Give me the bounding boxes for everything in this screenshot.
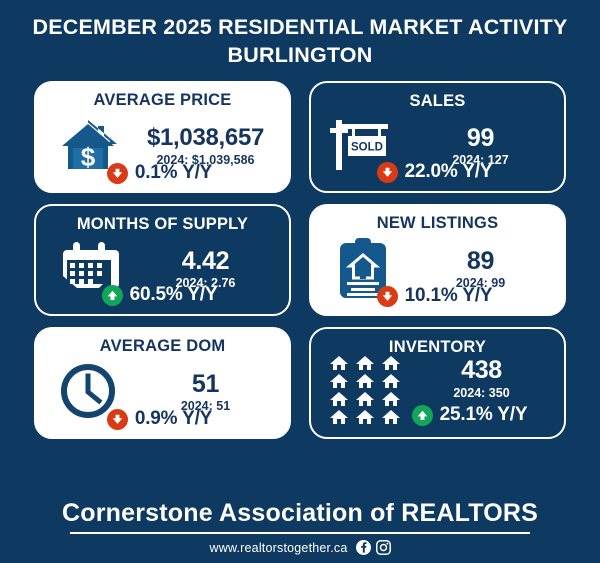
card-title: SALES [321,93,554,110]
card-body: SOLD 99 2024: 127 22.0% Y/Y [321,110,554,185]
card-change: 22.0% Y/Y [405,161,493,183]
card-change: 0.1% Y/Y [135,162,212,184]
infographic-page: DECEMBER 2025 RESIDENTIAL MARKET ACTIVIT… [0,0,600,563]
house-icon [355,409,375,430]
page-title-line2: BURLINGTON [20,42,580,70]
arrow-down-icon [107,409,128,430]
instagram-icon[interactable] [376,540,391,555]
sold-label: SOLD [351,142,383,154]
card-previous-value: 2024: 350 [453,386,509,400]
card-change: 25.1% Y/Y [440,404,528,426]
card-value: 438 [461,358,502,384]
brand-divider [70,532,530,534]
stats-grid: AVERAGE PRICE $ $1,038,657 2024: $1,039 [0,75,600,439]
card-body: 51 2024: 51 0.9% Y/Y [45,355,280,432]
change-row: 10.1% Y/Y [320,285,549,307]
stat-slot: 438 2024: 350 [409,356,554,402]
card-change: 0.9% Y/Y [135,408,212,430]
footer: Cornerstone Association of REALTORS www.… [0,500,600,556]
stat-card-inventory: INVENTORY [309,327,566,439]
card-body: 438 2024: 350 25.1% Y/Y [321,356,554,431]
facebook-icon[interactable] [356,540,371,555]
card-title: AVERAGE DOM [45,338,280,355]
arrow-down-icon [377,286,398,307]
stat-card-average-price: AVERAGE PRICE $ $1,038,657 2024: $1,039 [34,81,291,193]
brand-name: Cornerstone Association of REALTORS [60,500,540,528]
card-title: AVERAGE PRICE [45,92,280,109]
card-value: $1,038,657 [147,126,264,150]
arrow-down-icon [107,163,128,184]
footer-bottom: www.realtorstogether.ca [60,540,540,555]
card-value: 51 [192,372,219,398]
stat-card-new-listings: NEW LISTINGS [309,204,566,316]
card-value: 4.42 [182,249,229,275]
card-title: INVENTORY [321,339,554,356]
change-row: 60.5% Y/Y [46,284,273,306]
card-body: $ $1,038,657 2024: $1,039,586 0.1% Y/Y [45,109,280,186]
change-row: 0.9% Y/Y [45,408,274,430]
card-value: 89 [467,249,494,275]
card-body: 89 2024: 99 10.1% Y/Y [320,232,555,309]
stat-card-sales: SALES SOLD [309,81,566,193]
stat-card-average-dom: AVERAGE DOM 51 2024: 51 [34,327,291,439]
change-row: 0.1% Y/Y [45,162,274,184]
card-change: 60.5% Y/Y [130,284,218,306]
header: DECEMBER 2025 RESIDENTIAL MARKET ACTIVIT… [0,0,600,75]
house-icon [329,409,349,430]
card-change: 10.1% Y/Y [405,285,493,307]
arrow-up-icon [412,405,433,426]
arrow-down-icon [377,162,398,183]
social-links [356,540,391,555]
website-url[interactable]: www.realtorstogether.ca [210,541,348,555]
arrow-up-icon [102,285,123,306]
change-row: 25.1% Y/Y [389,404,550,426]
page-title-line1: DECEMBER 2025 RESIDENTIAL MARKET ACTIVIT… [20,14,580,42]
card-title: NEW LISTINGS [320,215,555,232]
card-body: 4.42 2024: 2.76 60.5% Y/Y [46,233,279,308]
card-value: 99 [467,126,494,152]
stat-card-months-of-supply: MONTHS OF SUPPLY [34,204,291,316]
card-title: MONTHS OF SUPPLY [46,216,279,233]
change-row: 22.0% Y/Y [321,161,548,183]
